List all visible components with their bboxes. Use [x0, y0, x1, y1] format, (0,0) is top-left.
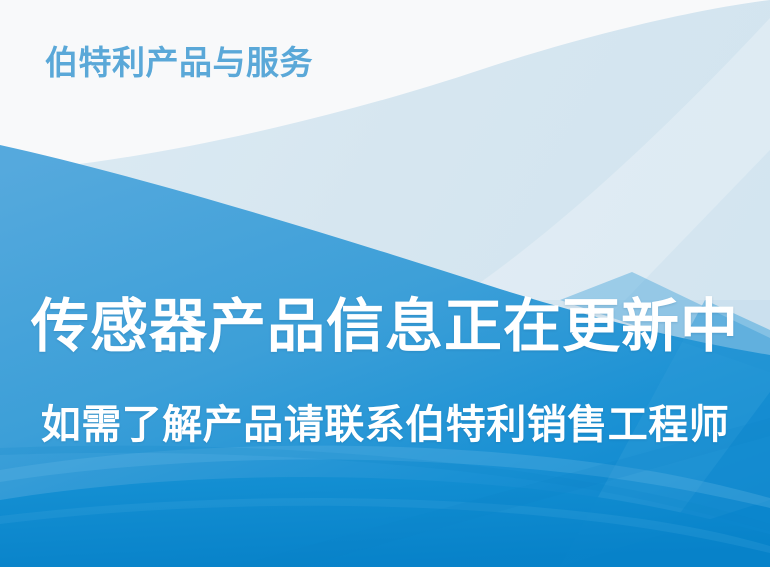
- product-service-banner: 伯特利产品与服务 传感器产品信息正在更新中 如需了解产品请联系伯特利销售工程师: [0, 0, 770, 567]
- subheadline-text: 如需了解产品请联系伯特利销售工程师: [0, 404, 770, 446]
- decorative-wave-background: [0, 0, 770, 567]
- headline-text: 传感器产品信息正在更新中: [0, 296, 770, 357]
- page-title: 伯特利产品与服务: [45, 44, 313, 82]
